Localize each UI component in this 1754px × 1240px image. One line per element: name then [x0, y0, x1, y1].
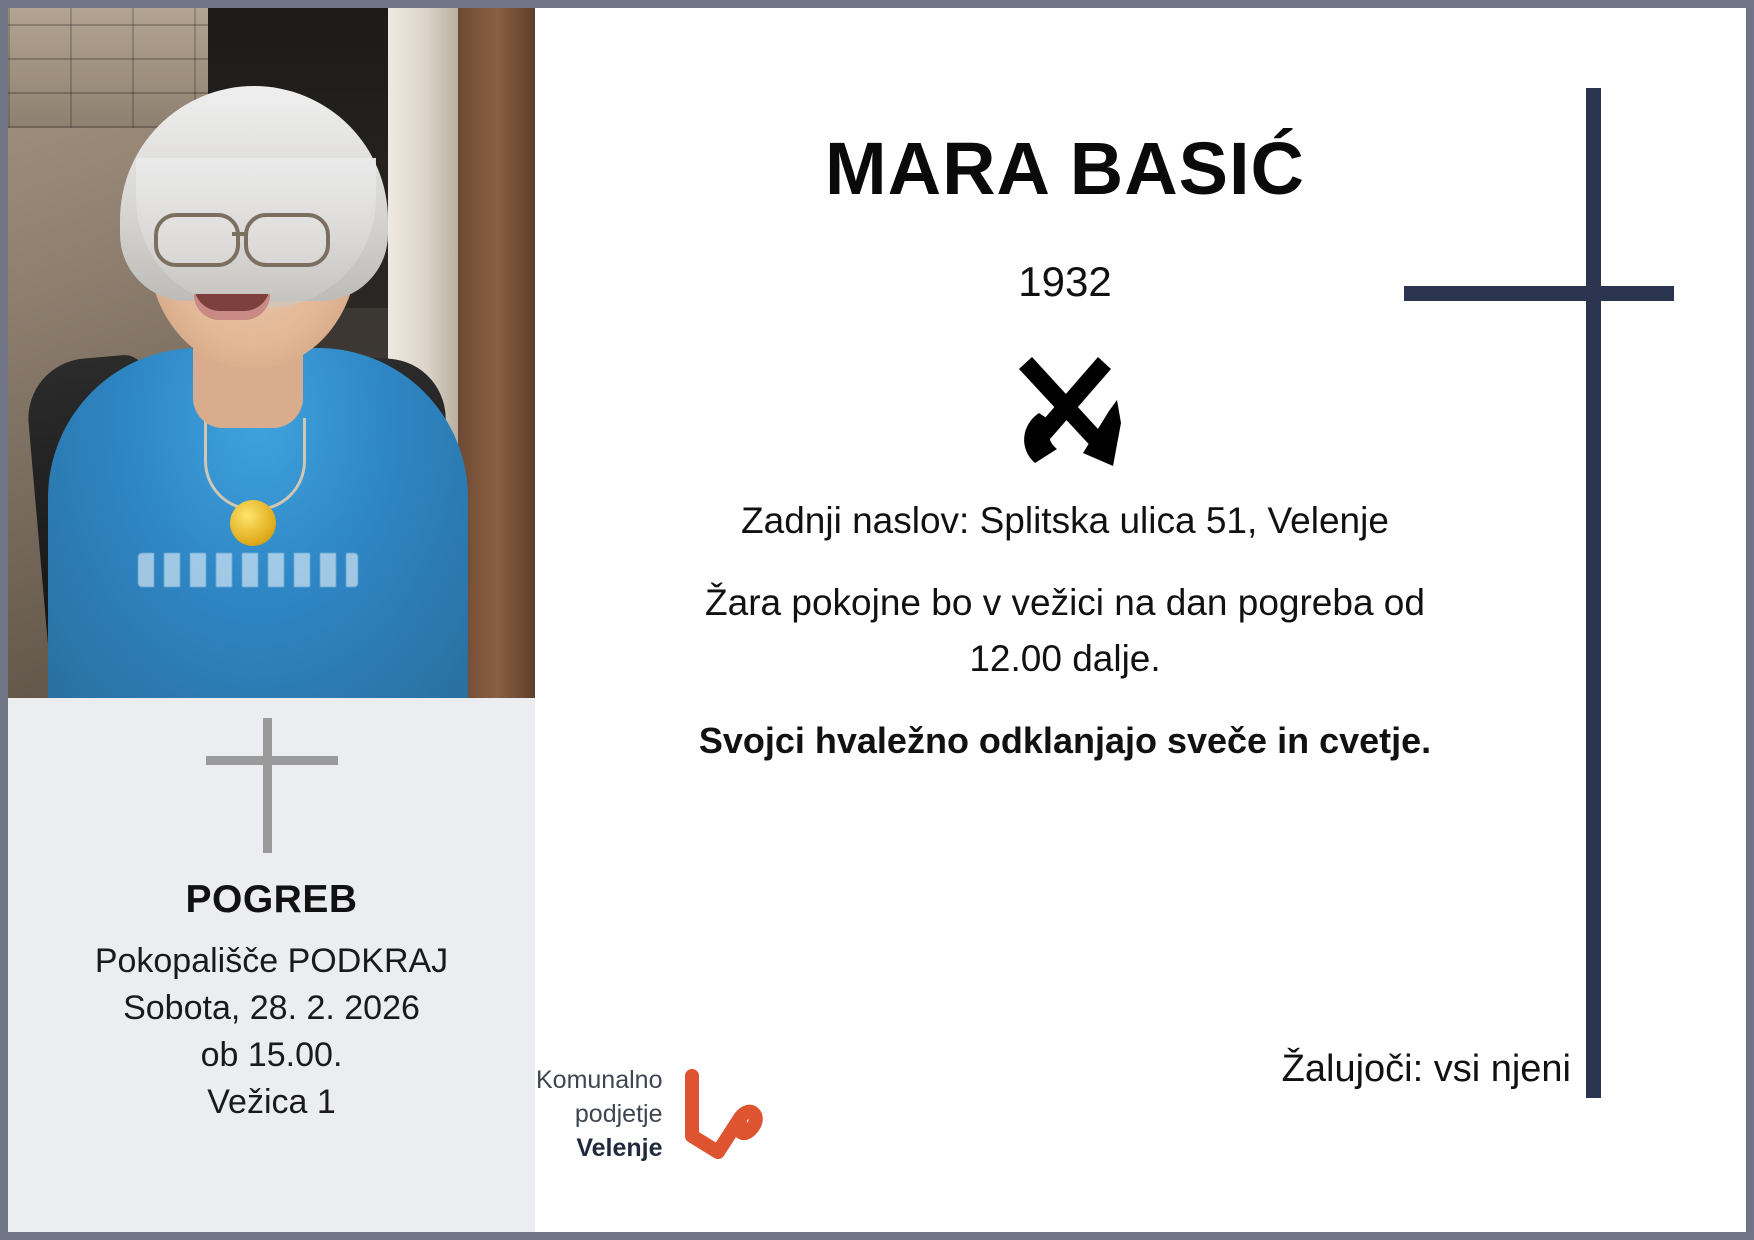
- urn-notice-line-1: Žara pokojne bo v vežici na dan pogreba …: [565, 575, 1565, 631]
- urn-notice: Žara pokojne bo v vežici na dan pogreba …: [565, 575, 1565, 687]
- company-logo: Komunalno podjetje Velenje: [536, 1063, 764, 1165]
- funeral-time: ob 15.00.: [8, 1032, 535, 1079]
- miner-symbol-wrap: [535, 353, 1595, 476]
- photo-pendant: [230, 500, 276, 546]
- photo-shirt-print: [138, 553, 358, 587]
- obituary-card: POGREB Pokopališče PODKRAJ Sobota, 28. 2…: [8, 8, 1746, 1232]
- left-column: POGREB Pokopališče PODKRAJ Sobota, 28. 2…: [8, 8, 535, 1232]
- funeral-info-panel: POGREB Pokopališče PODKRAJ Sobota, 28. 2…: [8, 698, 535, 1232]
- portrait-photo: [8, 8, 535, 698]
- right-column: MARA BASIĆ 1932 Za: [535, 8, 1746, 1232]
- deceased-name: MARA BASIĆ: [535, 126, 1595, 211]
- birth-year: 1932: [535, 258, 1595, 306]
- company-logo-text: Komunalno podjetje Velenje: [536, 1063, 662, 1165]
- photo-door: [458, 8, 535, 698]
- company-name-line-3: Velenje: [536, 1131, 662, 1165]
- photo-eyeglass-bridge: [232, 232, 246, 236]
- company-name-line-2: podjetje: [536, 1097, 662, 1131]
- latin-cross-icon: [192, 718, 352, 853]
- cemetery-name: Pokopališče PODKRAJ: [8, 938, 535, 985]
- mourners-line: Žalujoči: vsi njeni: [1282, 1048, 1571, 1091]
- photo-eyeglass-right: [244, 213, 330, 267]
- funeral-heading: POGREB: [8, 878, 535, 922]
- chapel-number: Vežica 1: [8, 1079, 535, 1126]
- company-name-line-1: Komunalno: [536, 1063, 662, 1097]
- obituary-page: POGREB Pokopališče PODKRAJ Sobota, 28. 2…: [0, 0, 1754, 1240]
- funeral-details: Pokopališče PODKRAJ Sobota, 28. 2. 2026 …: [8, 938, 535, 1126]
- notice-text-block: Zadnji naslov: Splitska ulica 51, Velenj…: [565, 493, 1565, 795]
- kp-monogram-icon: [680, 1068, 764, 1160]
- last-address-line: Zadnji naslov: Splitska ulica 51, Velenj…: [565, 493, 1565, 549]
- crossed-mining-hammers-icon: [1005, 353, 1125, 471]
- photo-eyeglass-left: [154, 213, 240, 267]
- urn-notice-line-2: 12.00 dalje.: [565, 631, 1565, 687]
- funeral-date: Sobota, 28. 2. 2026: [8, 985, 535, 1032]
- flowers-notice: Svojci hvaležno odklanjajo sveče in cvet…: [565, 713, 1565, 769]
